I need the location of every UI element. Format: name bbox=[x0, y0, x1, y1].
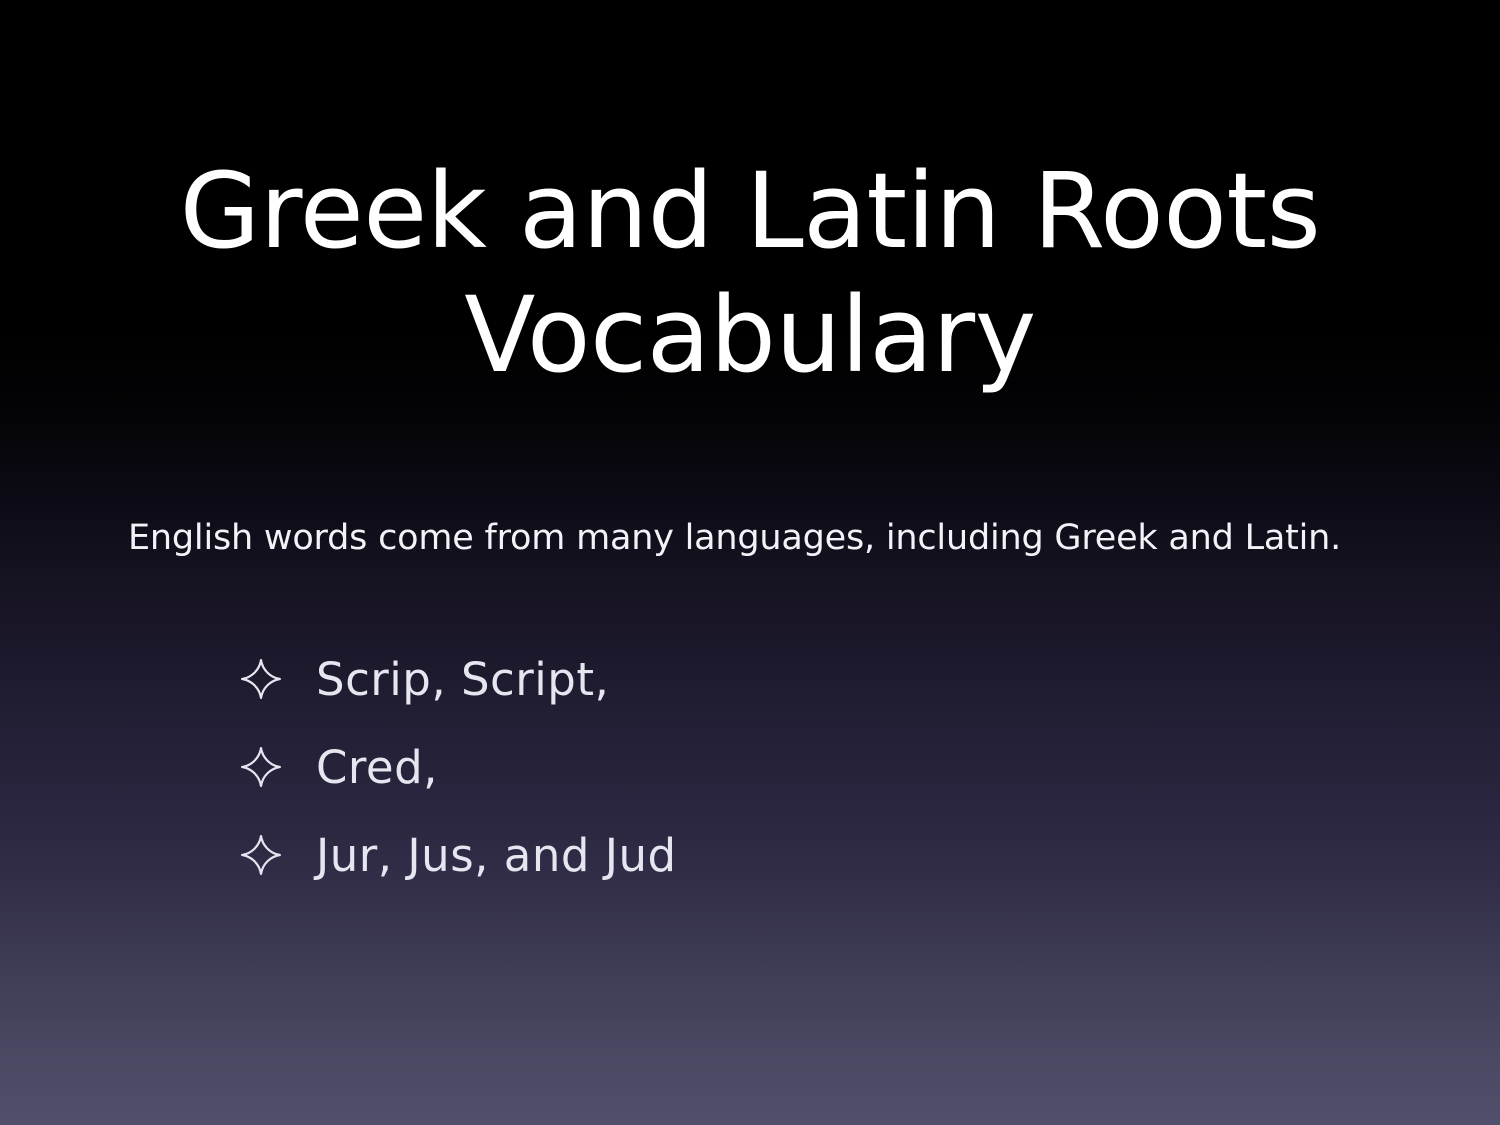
root-bullet-list: Scrip, Script, Cred, Jur, Jus, and Jud bbox=[240, 650, 677, 914]
list-item: Scrip, Script, bbox=[240, 650, 677, 738]
list-item-label: Jur, Jus, and Jud bbox=[316, 826, 677, 886]
four-pointed-star-icon bbox=[240, 829, 282, 881]
list-item: Cred, bbox=[240, 738, 677, 826]
list-item: Jur, Jus, and Jud bbox=[240, 826, 677, 914]
list-item-label: Scrip, Script, bbox=[316, 650, 609, 710]
four-pointed-star-icon bbox=[240, 741, 282, 793]
title-line-1: Greek and Latin Roots bbox=[0, 150, 1500, 274]
four-pointed-star-icon bbox=[240, 653, 282, 705]
slide-subtitle: English words come from many languages, … bbox=[128, 517, 1378, 561]
slide-title: Greek and Latin Roots Vocabulary bbox=[0, 150, 1500, 398]
presentation-slide: Greek and Latin Roots Vocabulary English… bbox=[0, 0, 1500, 1125]
title-line-2: Vocabulary bbox=[0, 274, 1500, 398]
list-item-label: Cred, bbox=[316, 738, 438, 798]
